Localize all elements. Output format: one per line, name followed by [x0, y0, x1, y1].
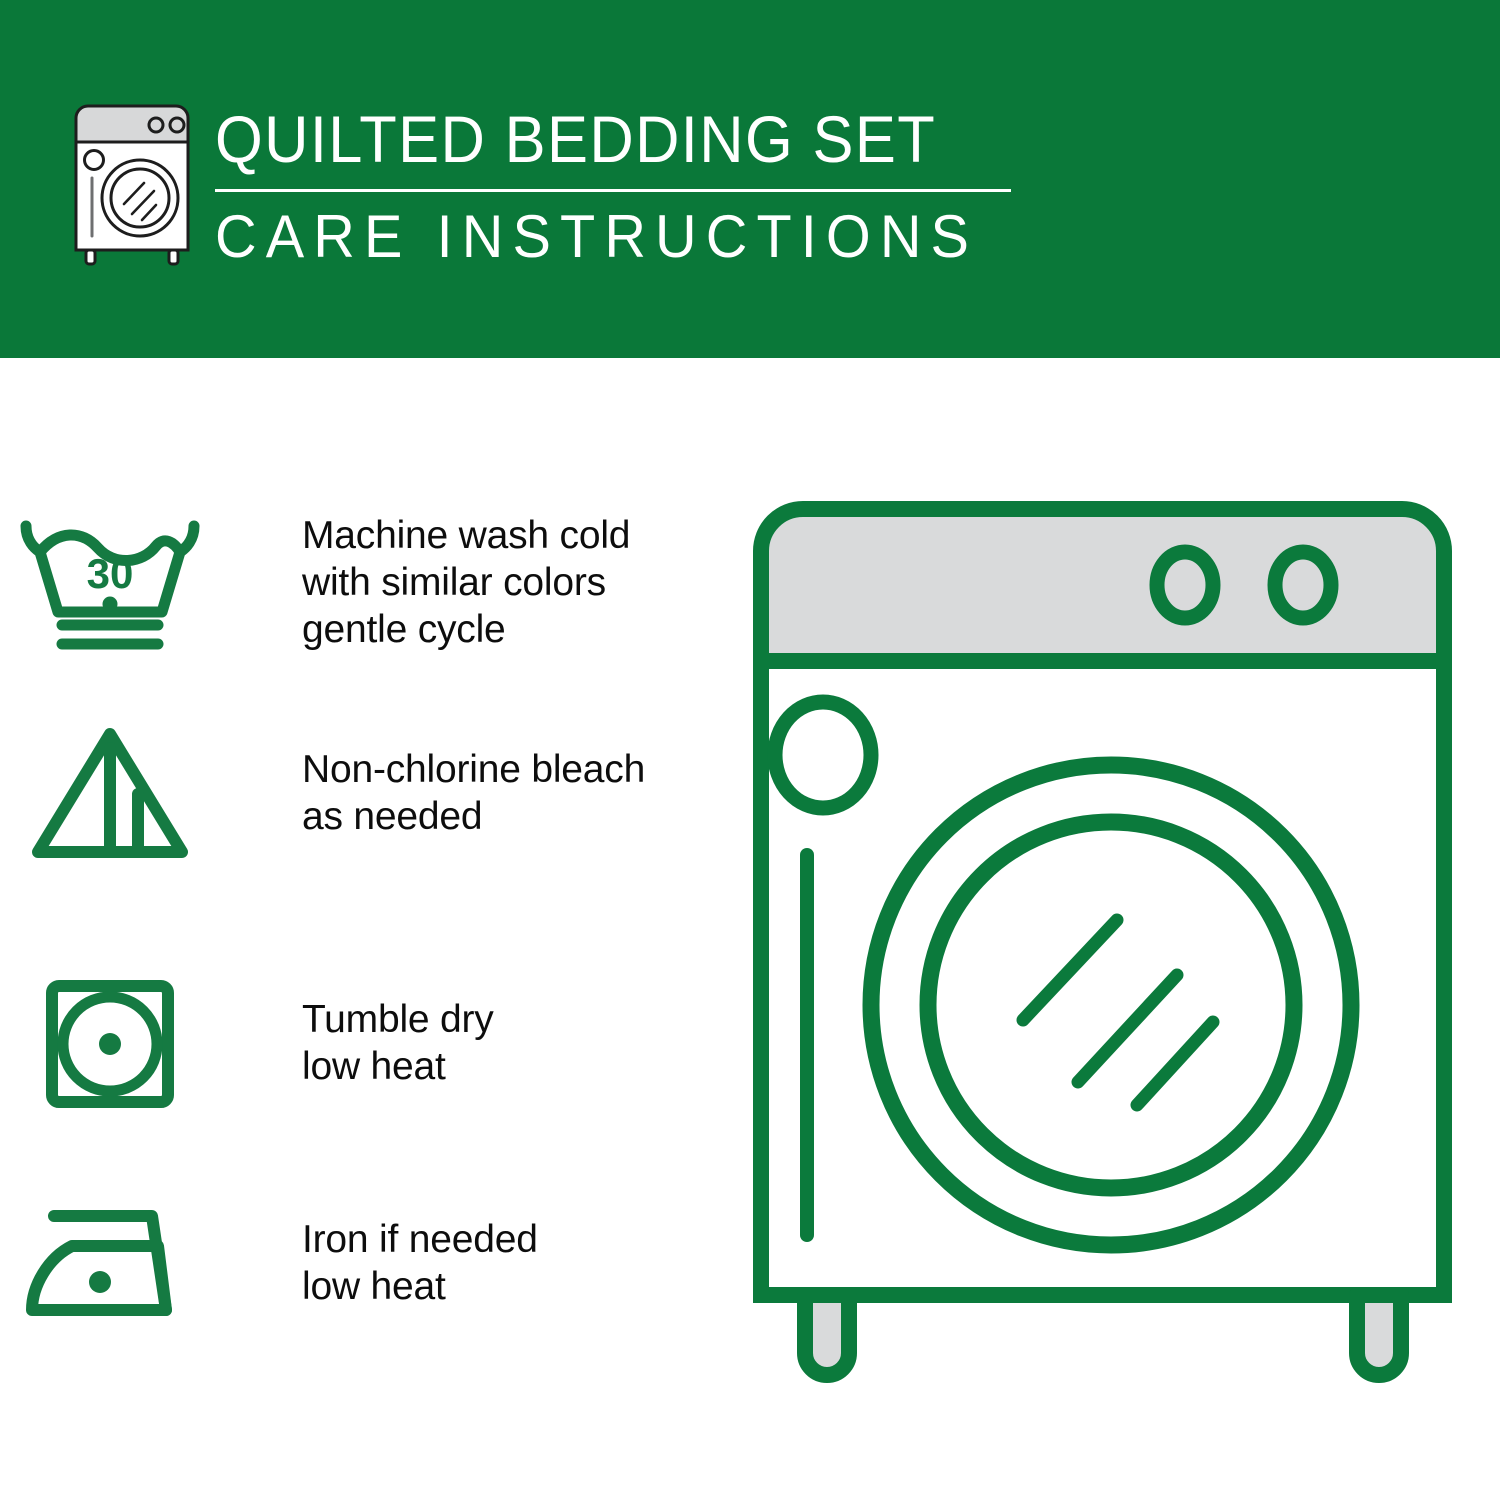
wash-tub-30-gentle-icon: 30 [0, 500, 220, 665]
header-divider [215, 189, 1011, 192]
care-row: Tumble dry low heat [0, 960, 740, 1125]
care-text-tumble-dry: Tumble dry low heat [220, 996, 494, 1090]
non-chlorine-bleach-triangle-icon [0, 710, 220, 875]
washing-machine-icon [62, 104, 202, 269]
page-subtitle: CARE INSTRUCTIONS [215, 204, 983, 270]
iron-low-heat-icon [0, 1180, 220, 1345]
care-row: 30 Machine wash cold with similar colors… [0, 500, 740, 665]
care-text-machine-wash: Machine wash cold with similar colors ge… [220, 512, 630, 653]
header-banner: QUILTED BEDDING SET CARE INSTRUCTIONS [0, 0, 1500, 358]
care-text-iron: Iron if needed low heat [220, 1216, 538, 1310]
front-load-washing-machine-illustration [745, 495, 1460, 1415]
care-instructions-page: QUILTED BEDDING SET CARE INSTRUCTIONS [0, 0, 1500, 1500]
care-row: Iron if needed low heat [0, 1180, 740, 1345]
care-row: Non-chlorine bleach as needed [0, 710, 740, 875]
page-title: QUILTED BEDDING SET [215, 103, 959, 175]
header-text-block: QUILTED BEDDING SET CARE INSTRUCTIONS [215, 103, 1015, 270]
tumble-dry-low-icon [0, 960, 220, 1125]
care-text-bleach: Non-chlorine bleach as needed [220, 746, 645, 840]
wash-temperature-label: 30 [87, 550, 134, 597]
